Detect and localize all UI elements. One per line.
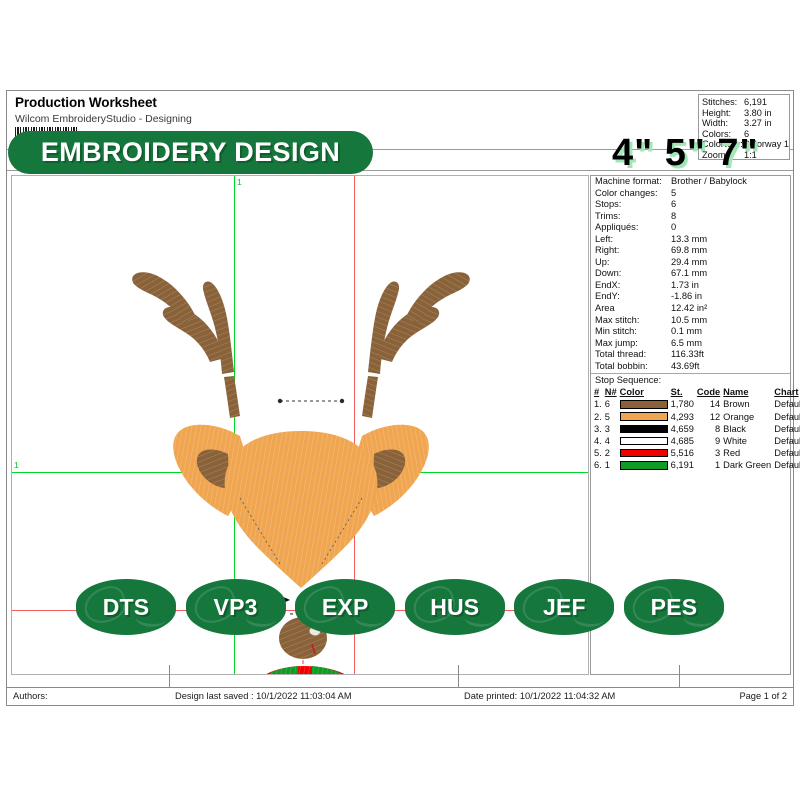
- info-label-max-stitch: Max stitch:: [595, 315, 671, 327]
- cell-stitches: 6,191: [671, 459, 697, 471]
- spec-row-stitches: Stitches: 6,191: [702, 97, 789, 108]
- info-value-max-jump: 6.5 mm: [671, 338, 702, 350]
- info-row-up: Up: 29.4 mm: [591, 257, 790, 269]
- table-row[interactable]: 4. 4 4,685 9 White Default: [594, 435, 800, 447]
- info-label-color-changes: Color changes:: [595, 188, 671, 200]
- table-row[interactable]: 6. 1 6,191 1 Dark Green Default: [594, 459, 800, 471]
- format-pill-vp3[interactable]: VP3: [186, 579, 286, 635]
- cell-chart: Default: [774, 411, 800, 423]
- info-label-up: Up:: [595, 257, 671, 269]
- table-row[interactable]: 5. 2 5,516 3 Red Default: [594, 447, 800, 459]
- table-header-row: # N# Color St. Code Name Chart: [594, 387, 800, 399]
- info-label-down: Down:: [595, 268, 671, 280]
- info-label-appliques: Appliqués:: [595, 222, 671, 234]
- color-swatch-red: [620, 449, 668, 458]
- footer-design-last-saved: Design last saved : 10/1/2022 11:03:04 A…: [175, 691, 352, 701]
- spec-label-height: Height:: [702, 108, 744, 119]
- page-title: Production Worksheet: [15, 95, 157, 110]
- cell-chart: Default: [774, 459, 800, 471]
- cell-stitches: 1,780: [671, 398, 697, 410]
- info-row-area: Area 12.42 in²: [591, 303, 790, 315]
- cell-needle: 6: [605, 398, 620, 410]
- cell-color-swatch: [620, 447, 671, 459]
- info-value-down: 67.1 mm: [671, 268, 707, 280]
- spec-value-stitches: 6,191: [744, 97, 767, 108]
- cell-needle: 5: [605, 411, 620, 423]
- cell-chart: Default: [774, 423, 800, 435]
- footer-page-number: Page 1 of 2: [739, 691, 787, 701]
- format-pill-label: DTS: [103, 594, 150, 621]
- format-pill-label: EXP: [322, 594, 369, 621]
- info-label-trims: Trims:: [595, 211, 671, 223]
- info-label-min-stitch: Min stitch:: [595, 326, 671, 338]
- cell-needle: 3: [605, 423, 620, 435]
- info-label-total-thread: Total thread:: [595, 349, 671, 361]
- cell-code: 1: [697, 459, 723, 471]
- spec-row-height: Height: 3.80 in: [702, 108, 789, 119]
- cell-name: White: [723, 435, 774, 447]
- table-row[interactable]: 3. 3 4,659 8 Black Default: [594, 423, 800, 435]
- info-value-stops: 6: [671, 199, 676, 211]
- info-label-endx: EndX:: [595, 280, 671, 292]
- info-row-down: Down: 67.1 mm: [591, 268, 790, 280]
- cell-name: Red: [723, 447, 774, 459]
- format-pill-pes[interactable]: PES: [624, 579, 724, 635]
- cell-name: Dark Green: [723, 459, 774, 471]
- cell-chart: Default: [774, 435, 800, 447]
- color-swatch-dark-green: [620, 461, 668, 470]
- info-value-min-stitch: 0.1 mm: [671, 326, 702, 338]
- cell-name: Brown: [723, 398, 774, 410]
- footer-separator-3: [679, 665, 680, 687]
- spec-row-width: Width: 3.27 in: [702, 118, 789, 129]
- spec-value-width: 3.27 in: [744, 118, 772, 129]
- stop-sequence-label: Stop Sequence:: [591, 375, 790, 387]
- cell-index: 3.: [594, 423, 605, 435]
- info-value-right: 69.8 mm: [671, 245, 707, 257]
- cell-stitches: 4,659: [671, 423, 697, 435]
- cell-name: Black: [723, 423, 774, 435]
- info-row-stops: Stops: 6: [591, 199, 790, 211]
- cell-code: 8: [697, 423, 723, 435]
- footer-authors: Authors:: [13, 691, 48, 701]
- info-row-max-jump: Max jump: 6.5 mm: [591, 338, 790, 350]
- format-pill-label: JEF: [543, 594, 586, 621]
- cell-index: 6.: [594, 459, 605, 471]
- info-row-left: Left: 13.3 mm: [591, 234, 790, 246]
- footer-bar: Authors: Design last saved : 10/1/2022 1…: [7, 688, 793, 705]
- format-pill-hus[interactable]: HUS: [405, 579, 505, 635]
- embroidery-design-banner: EMBROIDERY DESIGN: [8, 131, 373, 174]
- column-header-chart: Chart: [774, 387, 800, 399]
- footer-separator-1: [169, 665, 170, 687]
- column-header-stitches: St.: [671, 387, 697, 399]
- info-value-machine-format: Brother / Babylock: [671, 176, 747, 188]
- info-value-total-bobbin: 43.69ft: [671, 361, 699, 373]
- cell-name: Orange: [723, 411, 774, 423]
- info-label-stops: Stops:: [595, 199, 671, 211]
- cell-index: 4.: [594, 435, 605, 447]
- info-label-left: Left:: [595, 234, 671, 246]
- cell-needle: 1: [605, 459, 620, 471]
- stop-sequence-table: # N# Color St. Code Name Chart 1. 6: [594, 387, 800, 472]
- cell-code: 14: [697, 398, 723, 410]
- info-value-total-thread: 116.33ft: [671, 349, 704, 361]
- info-row-appliques: Appliqués: 0: [591, 222, 790, 234]
- format-pill-label: HUS: [430, 594, 479, 621]
- column-header-index: #: [594, 387, 605, 399]
- color-swatch-orange: [620, 412, 668, 421]
- cell-needle: 4: [605, 435, 620, 447]
- info-row-machine-format: Machine format: Brother / Babylock: [591, 176, 790, 188]
- cell-code: 3: [697, 447, 723, 459]
- info-value-area: 12.42 in²: [671, 303, 707, 315]
- cell-index: 5.: [594, 447, 605, 459]
- spec-label-stitches: Stitches:: [702, 97, 744, 108]
- cell-code: 9: [697, 435, 723, 447]
- info-row-max-stitch: Max stitch: 10.5 mm: [591, 315, 790, 327]
- info-label-max-jump: Max jump:: [595, 338, 671, 350]
- info-row-right: Right: 69.8 mm: [591, 245, 790, 257]
- worksheet-page: Production Worksheet Wilcom EmbroiderySt…: [0, 0, 800, 800]
- footer-date-printed: Date printed: 10/1/2022 11:04:32 AM: [464, 691, 615, 701]
- cell-needle: 2: [605, 447, 620, 459]
- format-pill-jef[interactable]: JEF: [514, 579, 614, 635]
- info-value-left: 13.3 mm: [671, 234, 707, 246]
- info-label-area: Area: [595, 303, 671, 315]
- column-header-color: Color: [620, 387, 671, 399]
- info-value-trims: 8: [671, 211, 676, 223]
- info-value-appliques: 0: [671, 222, 676, 234]
- info-value-up: 29.4 mm: [671, 257, 707, 269]
- format-pill-label: PES: [651, 594, 698, 621]
- info-value-color-changes: 5: [671, 188, 676, 200]
- cell-chart: Default: [774, 447, 800, 459]
- info-label-machine-format: Machine format:: [595, 176, 671, 188]
- cell-stitches: 4,685: [671, 435, 697, 447]
- info-label-endy: EndY:: [595, 291, 671, 303]
- info-row-endy: EndY: -1.86 in: [591, 291, 790, 303]
- cell-stitches: 5,516: [671, 447, 697, 459]
- application-subtitle: Wilcom EmbroideryStudio - Designing: [15, 113, 192, 125]
- cell-index: 2.: [594, 411, 605, 423]
- cell-index: 1.: [594, 398, 605, 410]
- format-pill-label: VP3: [214, 594, 258, 621]
- cell-chart: Default: [774, 398, 800, 410]
- spec-value-height: 3.80 in: [744, 108, 772, 119]
- format-pill-group: DTS VP3 EXP HUS JEF PES: [76, 578, 724, 636]
- cell-color-swatch: [620, 459, 671, 471]
- color-swatch-black: [620, 425, 668, 434]
- banner-label: EMBROIDERY DESIGN: [41, 137, 340, 168]
- spec-label-width: Width:: [702, 118, 744, 129]
- info-value-max-stitch: 10.5 mm: [671, 315, 707, 327]
- footer-separator-2: [458, 665, 459, 687]
- info-value-endx: 1.73 in: [671, 280, 699, 292]
- table-row[interactable]: 2. 5 4,293 12 Orange Default: [594, 411, 800, 423]
- info-row-total-thread: Total thread: 116.33ft: [591, 349, 790, 361]
- cell-color-swatch: [620, 435, 671, 447]
- info-row-min-stitch: Min stitch: 0.1 mm: [591, 326, 790, 338]
- color-swatch-brown: [620, 400, 668, 409]
- cell-color-swatch: [620, 423, 671, 435]
- cell-code: 12: [697, 411, 723, 423]
- cell-color-swatch: [620, 398, 671, 410]
- info-row-endx: EndX: 1.73 in: [591, 280, 790, 292]
- format-pill-exp[interactable]: EXP: [295, 579, 395, 635]
- color-swatch-white: [620, 437, 668, 446]
- column-header-needle: N#: [605, 387, 620, 399]
- table-row[interactable]: 1. 6 1,780 14 Brown Default: [594, 398, 800, 410]
- info-value-endy: -1.86 in: [671, 291, 702, 303]
- format-pill-dts[interactable]: DTS: [76, 579, 176, 635]
- cell-stitches: 4,293: [671, 411, 697, 423]
- info-row-color-changes: Color changes: 5: [591, 188, 790, 200]
- info-label-right: Right:: [595, 245, 671, 257]
- column-header-name: Name: [723, 387, 774, 399]
- info-row-total-bobbin: Total bobbin: 43.69ft: [591, 361, 790, 373]
- column-header-code: Code: [697, 387, 723, 399]
- info-row-trims: Trims: 8: [591, 211, 790, 223]
- info-label-total-bobbin: Total bobbin:: [595, 361, 671, 373]
- size-watermark: 4" 5" 7": [612, 132, 759, 175]
- cell-color-swatch: [620, 411, 671, 423]
- panel-divider: [591, 373, 790, 374]
